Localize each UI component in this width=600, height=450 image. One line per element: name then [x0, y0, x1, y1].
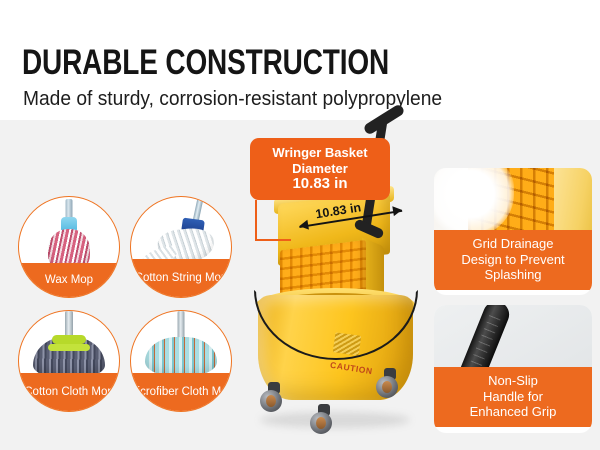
wringer-diameter-callout: Wringer Basket Diameter 10.83 in	[250, 138, 390, 200]
callout-value: 10.83 in	[258, 176, 382, 192]
mop-badge-microfiber-cloth-mop[interactable]: Microfiber Cloth Mop	[130, 310, 232, 412]
callout-leader-line	[255, 200, 257, 240]
caption-line-2: Handle for	[438, 389, 588, 405]
feature-card-caption: Non-Slip Handle for Enhanced Grip	[434, 367, 592, 427]
non-slip-handle-photo	[434, 305, 592, 367]
mop-badge-cotton-string-mop[interactable]: Cotton String Mop	[130, 196, 232, 298]
mop-badge-label: Wax Mop	[18, 263, 120, 297]
caption-line-1: Non-Slip	[438, 373, 588, 389]
page-title: DURABLE CONSTRUCTION	[22, 45, 389, 80]
caption-line-3: Enhanced Grip	[438, 404, 588, 420]
mop-badge-label: Cotton Cloth Mop	[18, 373, 120, 411]
callout-leader-line	[255, 239, 291, 241]
caster-wheel-icon	[260, 390, 282, 412]
feature-card-grid-drainage[interactable]: Grid Drainage Design to Prevent Splashin…	[434, 168, 592, 295]
grid-drainage-photo	[434, 168, 592, 230]
mop-badge-cotton-cloth-mop[interactable]: Cotton Cloth Mop	[18, 310, 120, 412]
mop-badge-label: Cotton String Mop	[130, 259, 232, 297]
product-feature-graphic: DURABLE CONSTRUCTION Made of sturdy, cor…	[0, 0, 600, 450]
caption-line-2: Design to Prevent	[438, 252, 588, 268]
caster-wheel-icon	[376, 376, 398, 398]
mop-badge-wax-mop[interactable]: Wax Mop	[18, 196, 120, 298]
caption-line-1: Grid Drainage	[438, 236, 588, 252]
callout-line-1: Wringer Basket	[258, 145, 382, 161]
page-subtitle: Made of sturdy, corrosion-resistant poly…	[23, 88, 442, 110]
feature-card-non-slip-handle[interactable]: Non-Slip Handle for Enhanced Grip	[434, 305, 592, 433]
callout-line-2: Diameter	[258, 161, 382, 177]
caption-line-3: Splashing	[438, 267, 588, 283]
caster-wheel-icon	[310, 412, 332, 434]
feature-card-caption: Grid Drainage Design to Prevent Splashin…	[434, 230, 592, 290]
mop-badge-label: Microfiber Cloth Mop	[130, 373, 232, 411]
